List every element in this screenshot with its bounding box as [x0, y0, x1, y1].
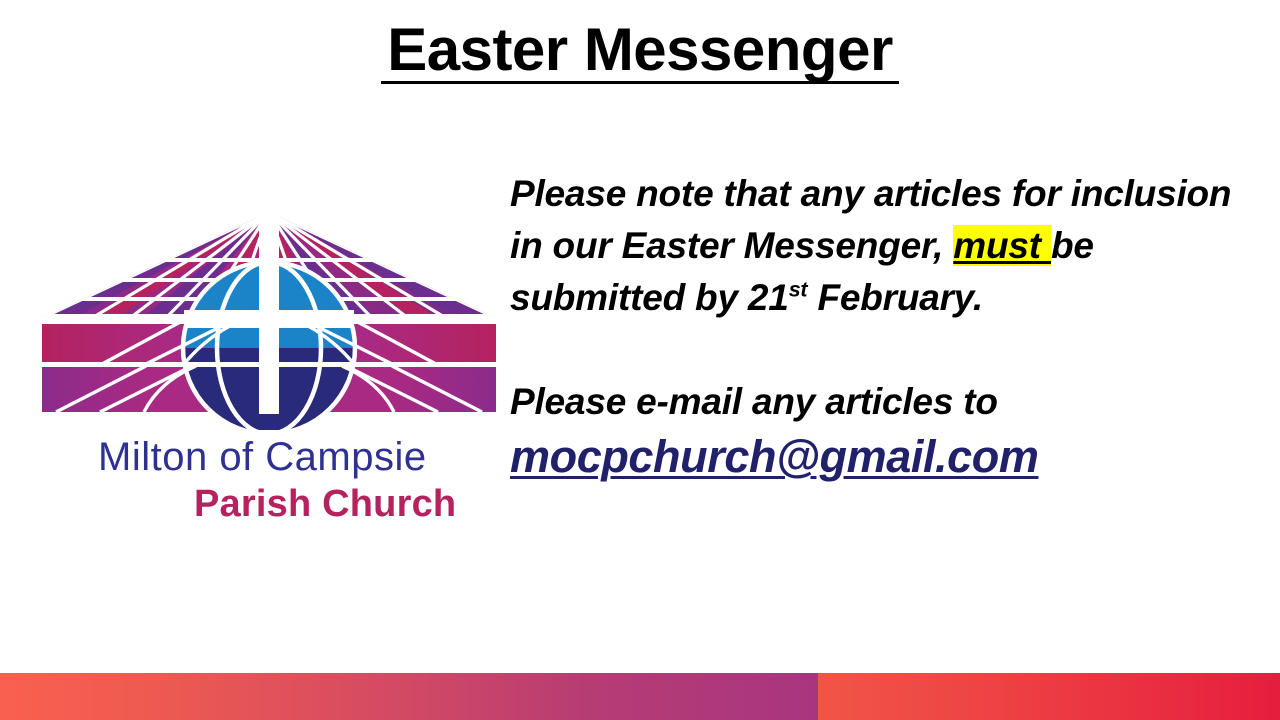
- footer-decorative-bars: [0, 673, 1280, 720]
- email-instruction-paragraph: Please e-mail any articles to: [510, 376, 1262, 428]
- church-logo-wordmark: Milton of Campsie Parish Church: [34, 428, 504, 520]
- title-underline-rule: [381, 81, 899, 84]
- footer-bar-right: [818, 673, 1280, 720]
- body-text-column: Please note that any articles for inclus…: [510, 168, 1262, 484]
- logo-wordmark-line-2: Parish Church: [194, 483, 456, 520]
- church-logo: Milton of Campsie Parish Church: [34, 200, 504, 520]
- email-address-link[interactable]: mocpchurch@gmail.com: [510, 430, 1039, 484]
- email-instruction-text: Please e-mail any articles to: [510, 381, 998, 422]
- must-highlight: must: [953, 225, 1051, 266]
- paragraph-spacer: [510, 324, 1262, 376]
- notice-part-1: Please note that any articles for inclus…: [510, 173, 1231, 266]
- page-title-text: Easter Messenger: [387, 16, 893, 83]
- footer-bar-left: [0, 673, 818, 720]
- logo-wordmark-line-1: Milton of Campsie: [98, 435, 427, 479]
- notice-part-3: February.: [807, 277, 983, 318]
- slide-canvas: Easter Messenger: [0, 0, 1280, 720]
- notice-paragraph: Please note that any articles for inclus…: [510, 168, 1262, 324]
- ordinal-suffix: st: [789, 278, 808, 302]
- page-title: Easter Messenger: [0, 18, 1280, 81]
- church-logo-mark-icon: [34, 200, 504, 430]
